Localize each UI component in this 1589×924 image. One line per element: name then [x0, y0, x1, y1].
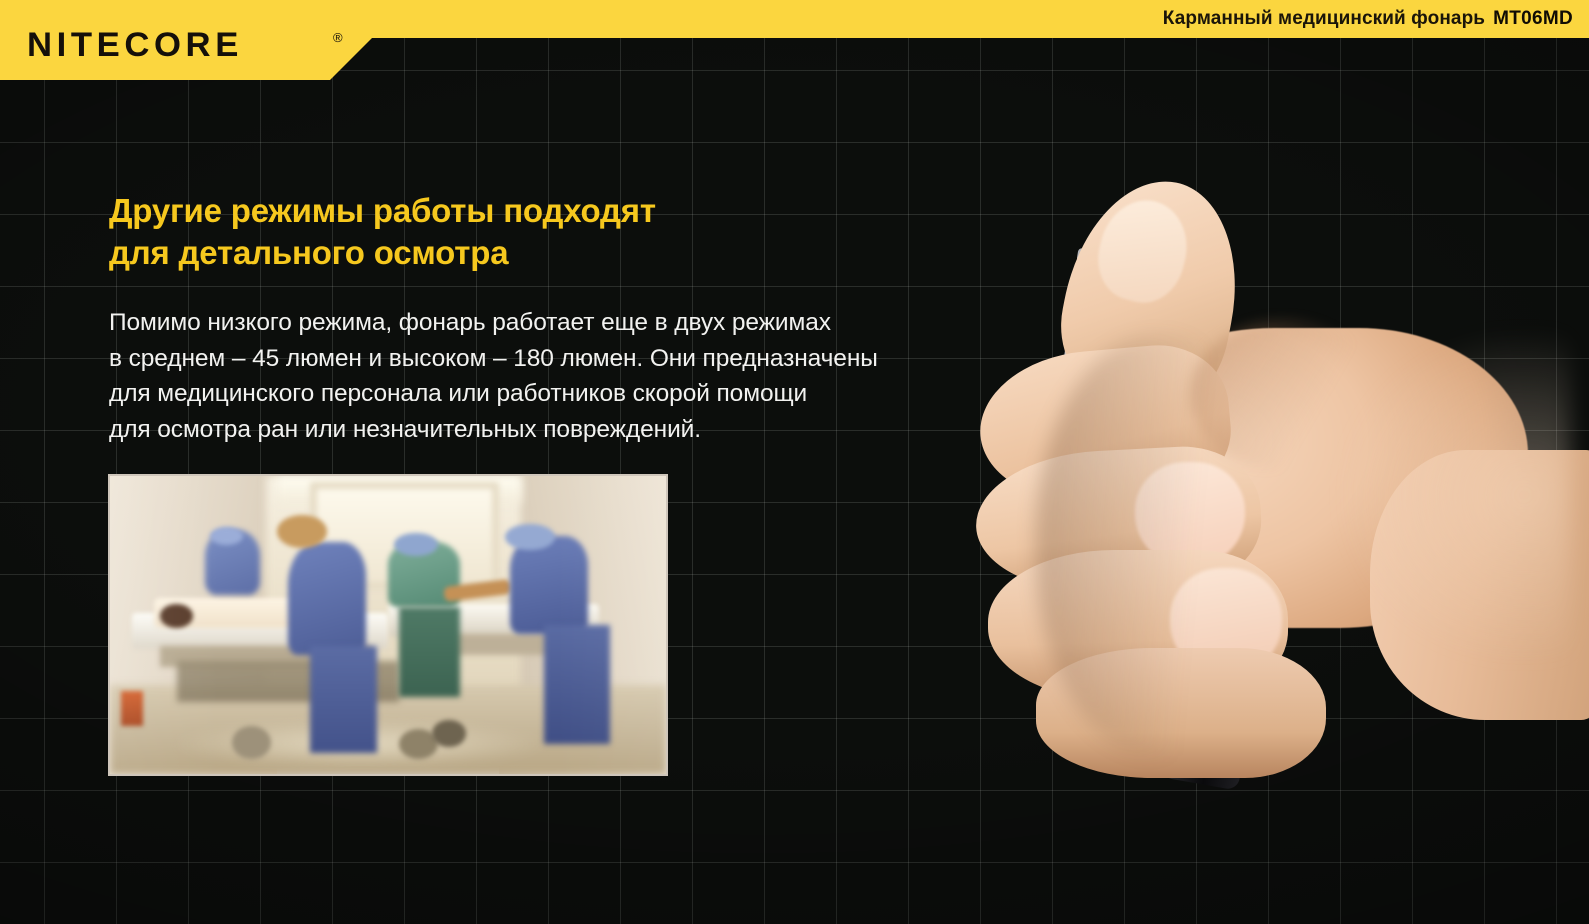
- body-line-2: в среднем – 45 люмен и высоком – 180 люм…: [109, 341, 1009, 377]
- body-line-3: для медицинского персонала или работнико…: [109, 376, 1009, 412]
- page-headline: Другие режимы работы подходят для деталь…: [109, 190, 829, 274]
- hero-photo-hand-with-flashlight: [940, 150, 1589, 800]
- header-category-label: Карманный медицинский фонарь: [1163, 8, 1485, 29]
- photo-motion-blur-overlay: [110, 476, 666, 774]
- headline-line-1: Другие режимы работы подходят: [109, 192, 656, 229]
- hand-shadow: [1036, 336, 1286, 756]
- body-paragraph: Помимо низкого режима, фонарь работает е…: [109, 305, 1009, 447]
- hand-highlight: [1340, 330, 1570, 660]
- headline-line-2: для детального осмотра: [109, 232, 829, 274]
- body-line-1: Помимо низкого режима, фонарь работает е…: [109, 305, 1009, 341]
- brand-logo-block: NITECORE ®: [0, 0, 372, 80]
- product-slide: Другие режимы работы подходят для деталь…: [0, 0, 1589, 924]
- nitecore-logo-text: NITECORE: [27, 26, 243, 65]
- header-product-title: Карманный медицинский фонарьMT06MD: [1163, 8, 1573, 30]
- body-line-4: для осмотра ран или незначительных повре…: [109, 412, 1009, 448]
- registered-trademark-icon: ®: [333, 30, 343, 45]
- inset-photo-hospital-corridor: [108, 474, 668, 776]
- header-model-label: MT06MD: [1493, 8, 1573, 29]
